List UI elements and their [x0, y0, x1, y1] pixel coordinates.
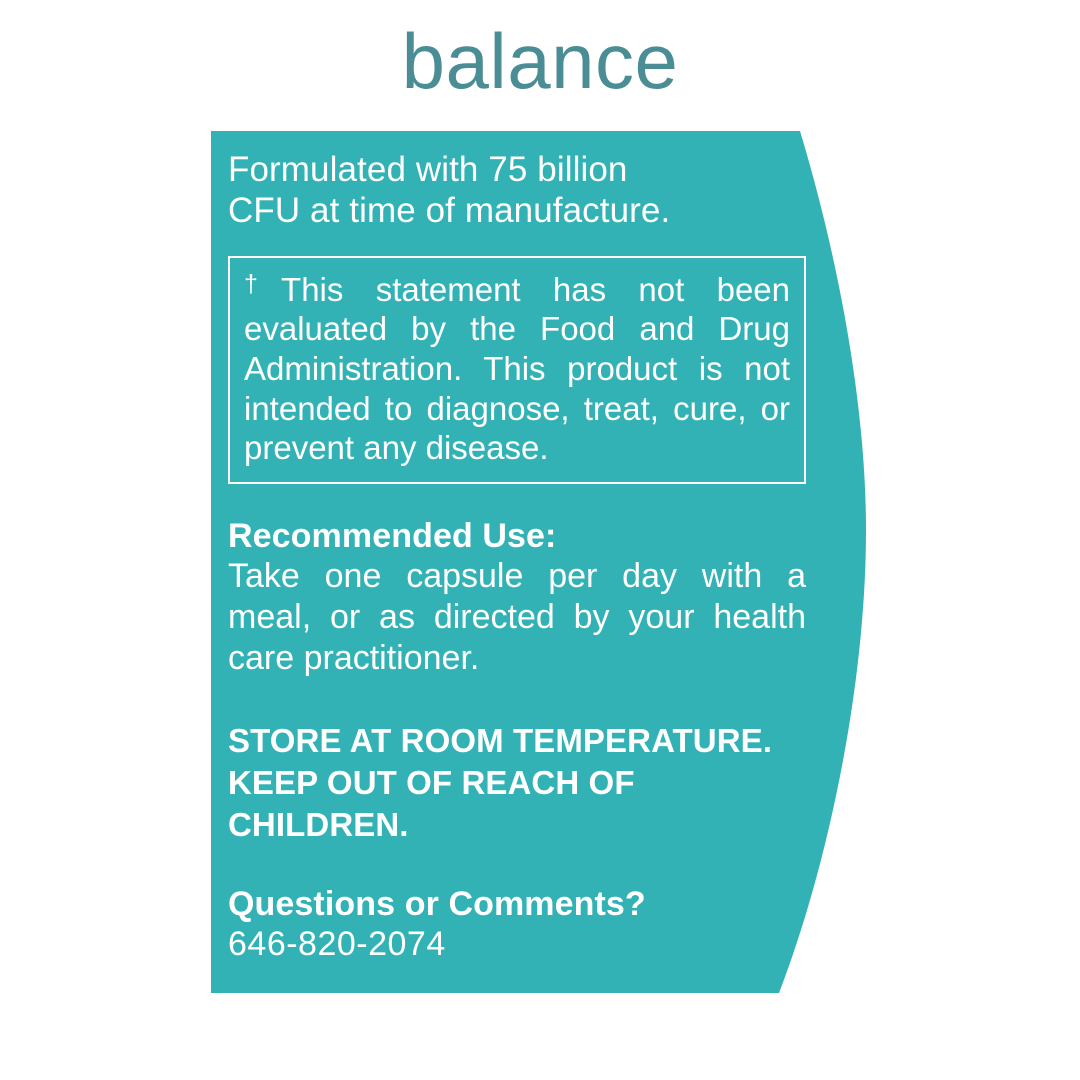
fda-disclaimer-body: This statement has not been evaluated by…: [244, 271, 790, 466]
label-artboard: balance Formulated with 75 billion CFU a…: [0, 0, 1080, 1080]
fda-disclaimer-box: †This statement has not been evaluated b…: [228, 256, 806, 484]
dagger-icon: †: [244, 270, 281, 298]
contact-heading: Questions or Comments?: [228, 884, 806, 924]
potency-statement: Formulated with 75 billion CFU at time o…: [228, 150, 806, 232]
label-panel-content: Formulated with 75 billion CFU at time o…: [228, 150, 806, 965]
recommended-use-body: Take one capsule per day with a meal, or…: [228, 556, 806, 678]
fda-disclaimer-text: †This statement has not been evaluated b…: [244, 270, 790, 468]
recommended-use-heading: Recommended Use:: [228, 516, 806, 556]
brand-logo: balance: [0, 22, 1080, 100]
contact-phone-number: 646-820-2074: [228, 924, 806, 965]
storage-warning: STORE AT ROOM TEMPERATURE. KEEP OUT OF R…: [228, 720, 806, 846]
